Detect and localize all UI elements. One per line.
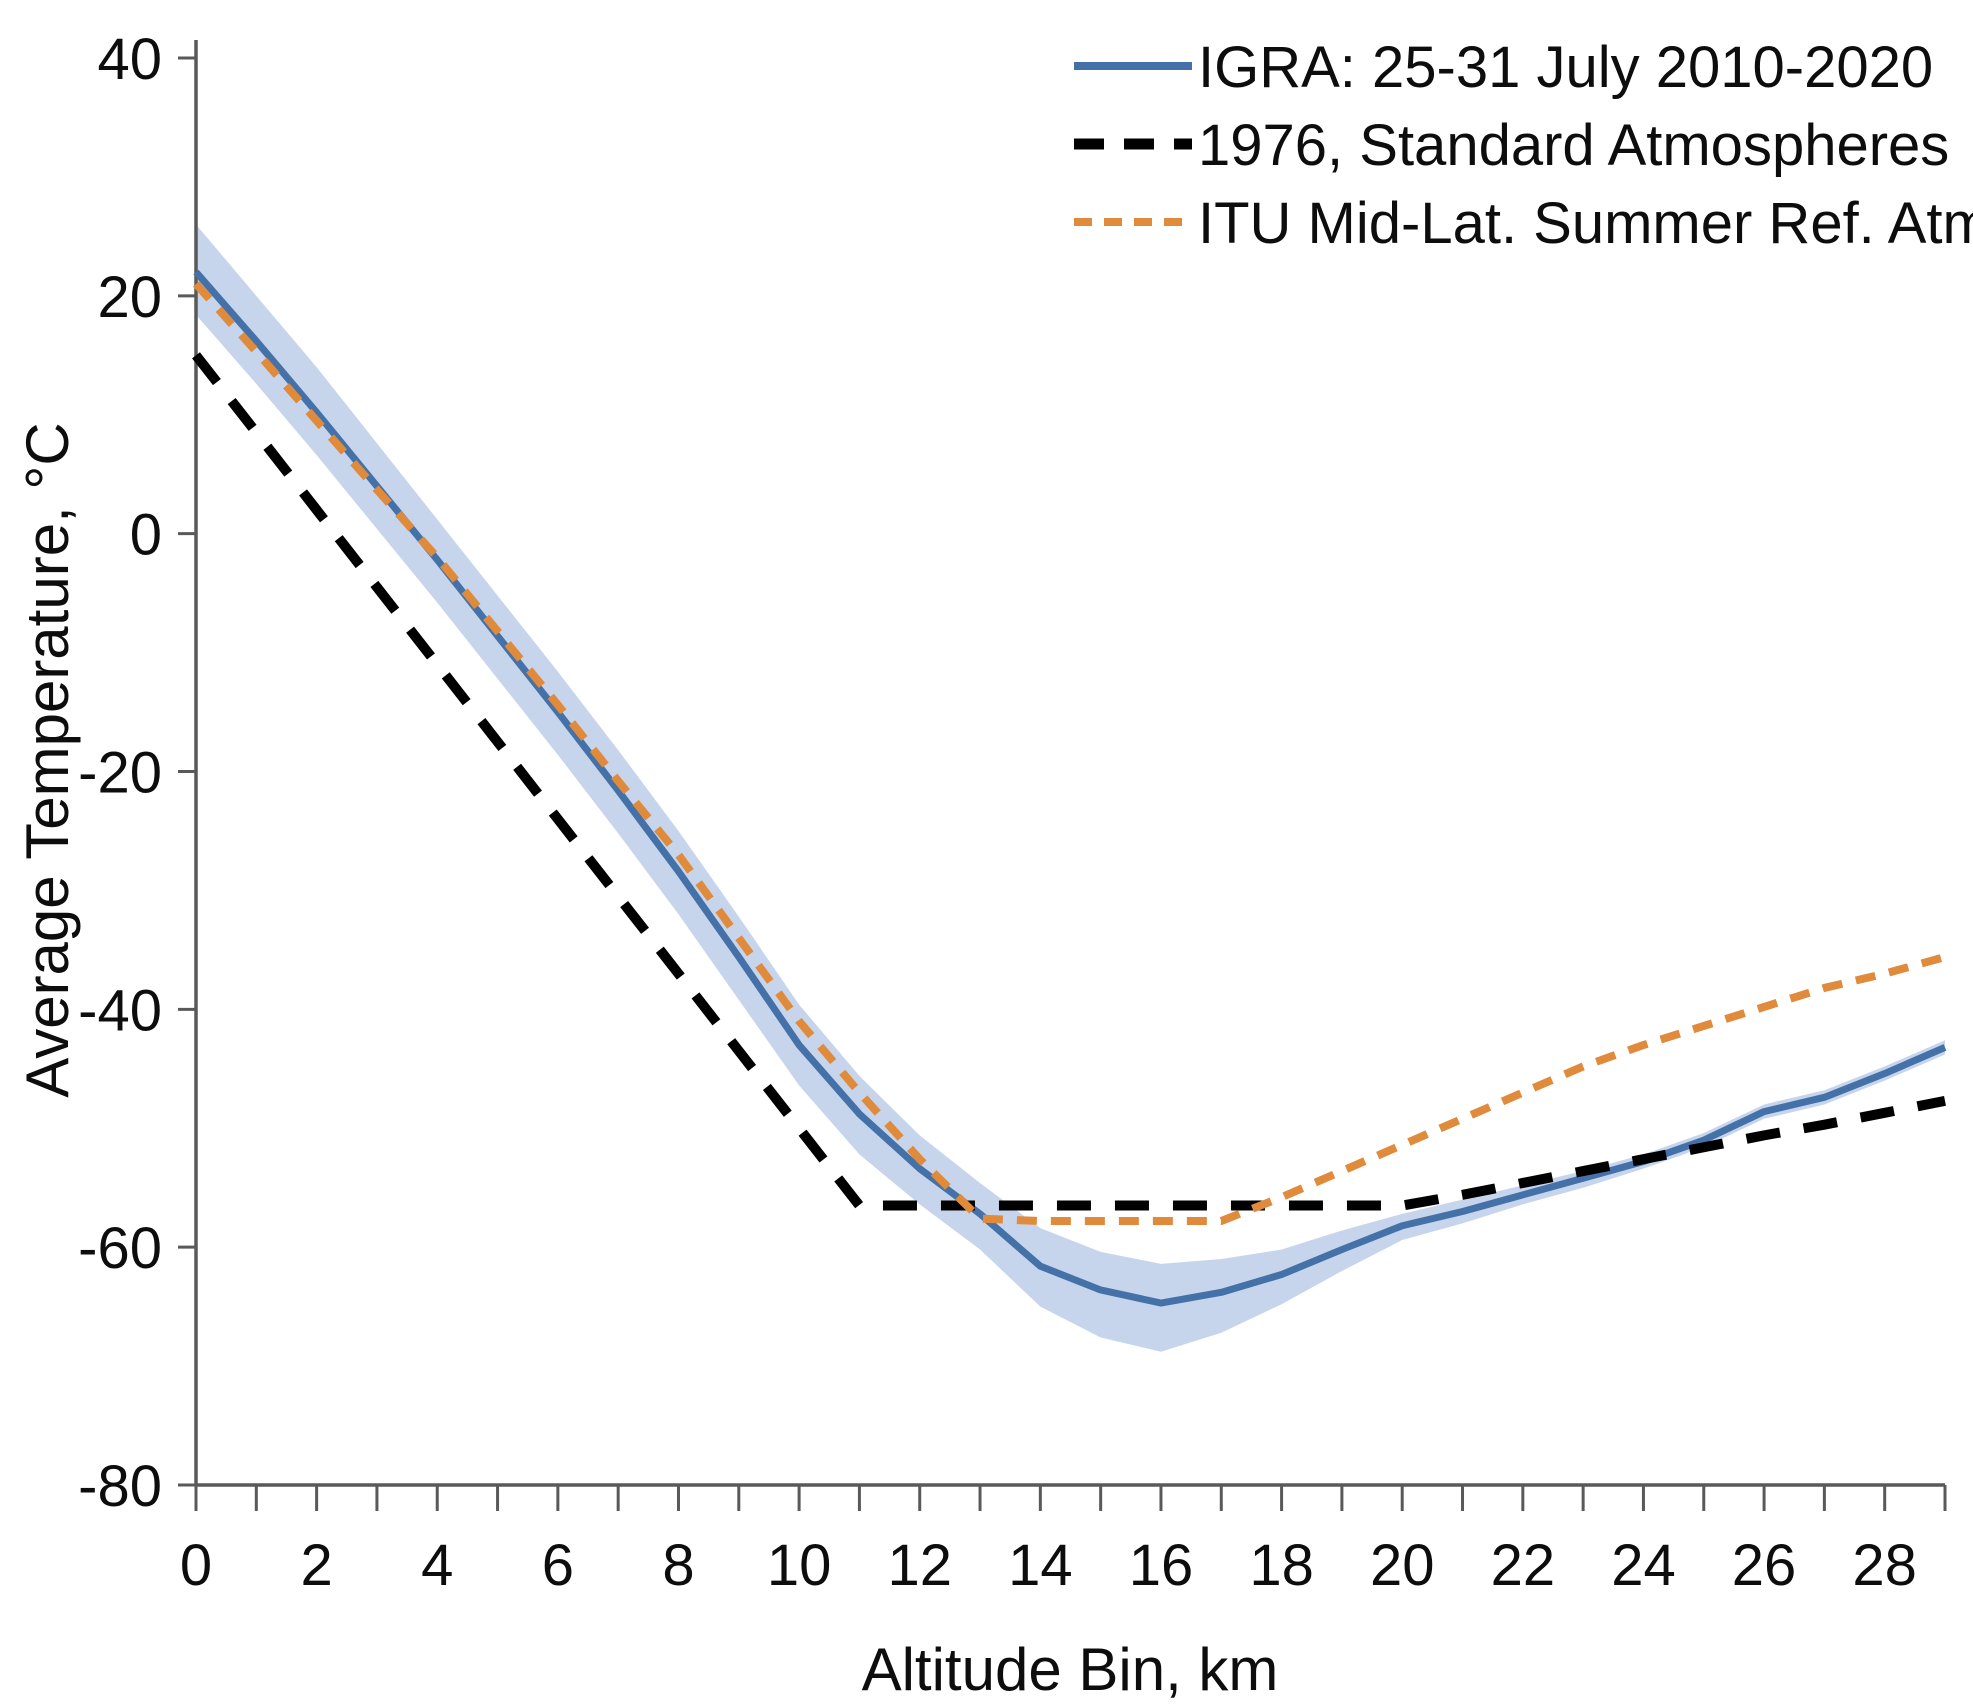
x-tick-label: 16: [1129, 1533, 1194, 1598]
x-tick-label: 2: [300, 1533, 332, 1598]
y-tick-label: 0: [130, 503, 162, 568]
x-axis-tick-labels: 0246810121416182022242628: [180, 1533, 1917, 1598]
legend-item[interactable]: ITU Mid-Lat. Summer Ref. Atmos.: [1074, 191, 1973, 256]
y-axis-ticks: [178, 58, 196, 1485]
x-tick-label: 12: [887, 1533, 952, 1598]
x-axis-title: Altitude Bin, km: [862, 1636, 1279, 1703]
chart-legend: IGRA: 25-31 July 2010-20201976, Standard…: [1074, 35, 1973, 256]
x-tick-label: 20: [1370, 1533, 1435, 1598]
x-tick-label: 28: [1852, 1533, 1917, 1598]
legend-item[interactable]: IGRA: 25-31 July 2010-2020: [1074, 35, 1933, 100]
legend-item[interactable]: 1976, Standard Atmospheres: [1074, 113, 1949, 178]
x-tick-label: 26: [1732, 1533, 1797, 1598]
x-axis-ticks: [196, 1485, 1945, 1511]
legend-label-3: ITU Mid-Lat. Summer Ref. Atmos.: [1198, 191, 1973, 256]
x-tick-label: 10: [767, 1533, 832, 1598]
legend-label-1: IGRA: 25-31 July 2010-2020: [1198, 35, 1933, 100]
y-tick-label: 40: [97, 27, 162, 92]
x-tick-label: 22: [1491, 1533, 1556, 1598]
x-tick-label: 14: [1008, 1533, 1073, 1598]
chart-canvas: 40200-20-40-60-80 0246810121416182022242…: [0, 0, 1973, 1708]
x-tick-label: 6: [542, 1533, 574, 1598]
y-tick-label: -80: [78, 1454, 162, 1519]
x-tick-label: 0: [180, 1533, 212, 1598]
legend-label-2: 1976, Standard Atmospheres: [1198, 113, 1949, 178]
x-tick-label: 24: [1611, 1533, 1676, 1598]
y-tick-label: 20: [97, 265, 162, 330]
y-axis-tick-labels: 40200-20-40-60-80: [78, 27, 162, 1519]
y-axis-title: Average Temperature, °C: [14, 422, 81, 1097]
y-tick-label: -40: [78, 978, 162, 1043]
y-tick-label: -60: [78, 1216, 162, 1281]
x-tick-label: 4: [421, 1533, 453, 1598]
x-tick-label: 8: [662, 1533, 694, 1598]
temperature-profile-figure: 40200-20-40-60-80 0246810121416182022242…: [0, 0, 1973, 1708]
y-tick-label: -20: [78, 741, 162, 806]
x-tick-label: 18: [1249, 1533, 1314, 1598]
